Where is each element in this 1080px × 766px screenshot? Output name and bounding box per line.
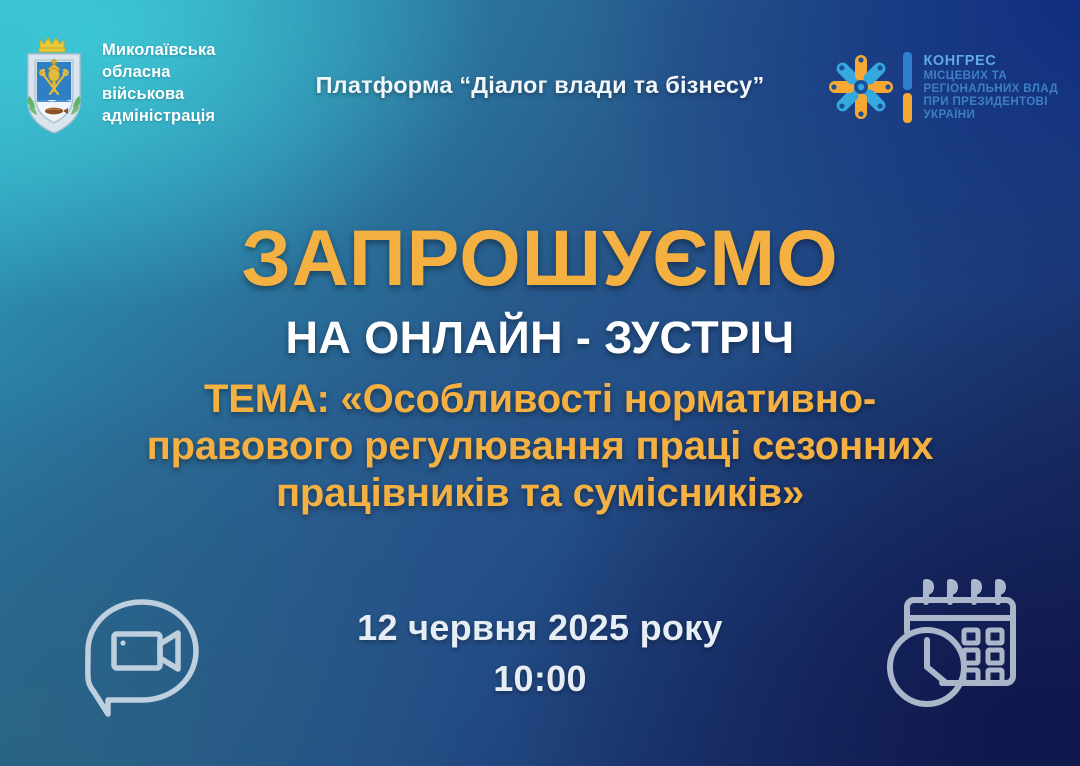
event-theme: ТЕМА: «Особливості нормативно- правового… [40, 376, 1040, 516]
invite-subtitle: НА ОНЛАЙН - ЗУСТРІЧ [0, 315, 1080, 360]
theme-line: ТЕМА: «Особливості нормативно- [40, 376, 1040, 423]
invite-title: ЗАПРОШУЄМО [0, 218, 1080, 297]
congress-text-block: КОНГРЕС МІСЦЕВИХ ТА РЕГІОНАЛЬНИХ ВЛАД ПР… [921, 53, 1058, 121]
poster-header: Миколаївська обласна військова адміністр… [0, 0, 1080, 150]
congress-bar-blue [903, 52, 912, 90]
congress-divider-bars [903, 52, 912, 123]
congress-branding: КОНГРЕС МІСЦЕВИХ ТА РЕГІОНАЛЬНИХ ВЛАД ПР… [828, 50, 1058, 124]
congress-line-1: КОНГРЕС [923, 53, 1058, 69]
theme-line: працівників та сумісників» [40, 470, 1040, 517]
congress-line-4: ПРИ ПРЕЗИДЕНТОВІ [923, 95, 1058, 108]
oda-name-label: Миколаївська обласна військова адміністр… [102, 40, 216, 127]
congress-bar-orange [903, 93, 912, 123]
congress-line-5: УКРАЇНИ [923, 108, 1058, 121]
invitation-poster: Миколаївська обласна військова адміністр… [0, 0, 1080, 766]
platform-title: Платформа “Діалог влади та бізнесу” [316, 72, 765, 99]
congress-line-3: РЕГІОНАЛЬНИХ ВЛАД [923, 82, 1058, 95]
mykolaiv-coat-of-arms-icon [18, 32, 90, 136]
theme-line: правового регулювання праці сезонних [40, 423, 1040, 470]
oda-branding: Миколаївська обласна військова адміністр… [18, 32, 216, 136]
congress-flower-logo-icon [828, 50, 894, 124]
congress-line-2: МІСЦЕВИХ ТА [923, 69, 1058, 82]
